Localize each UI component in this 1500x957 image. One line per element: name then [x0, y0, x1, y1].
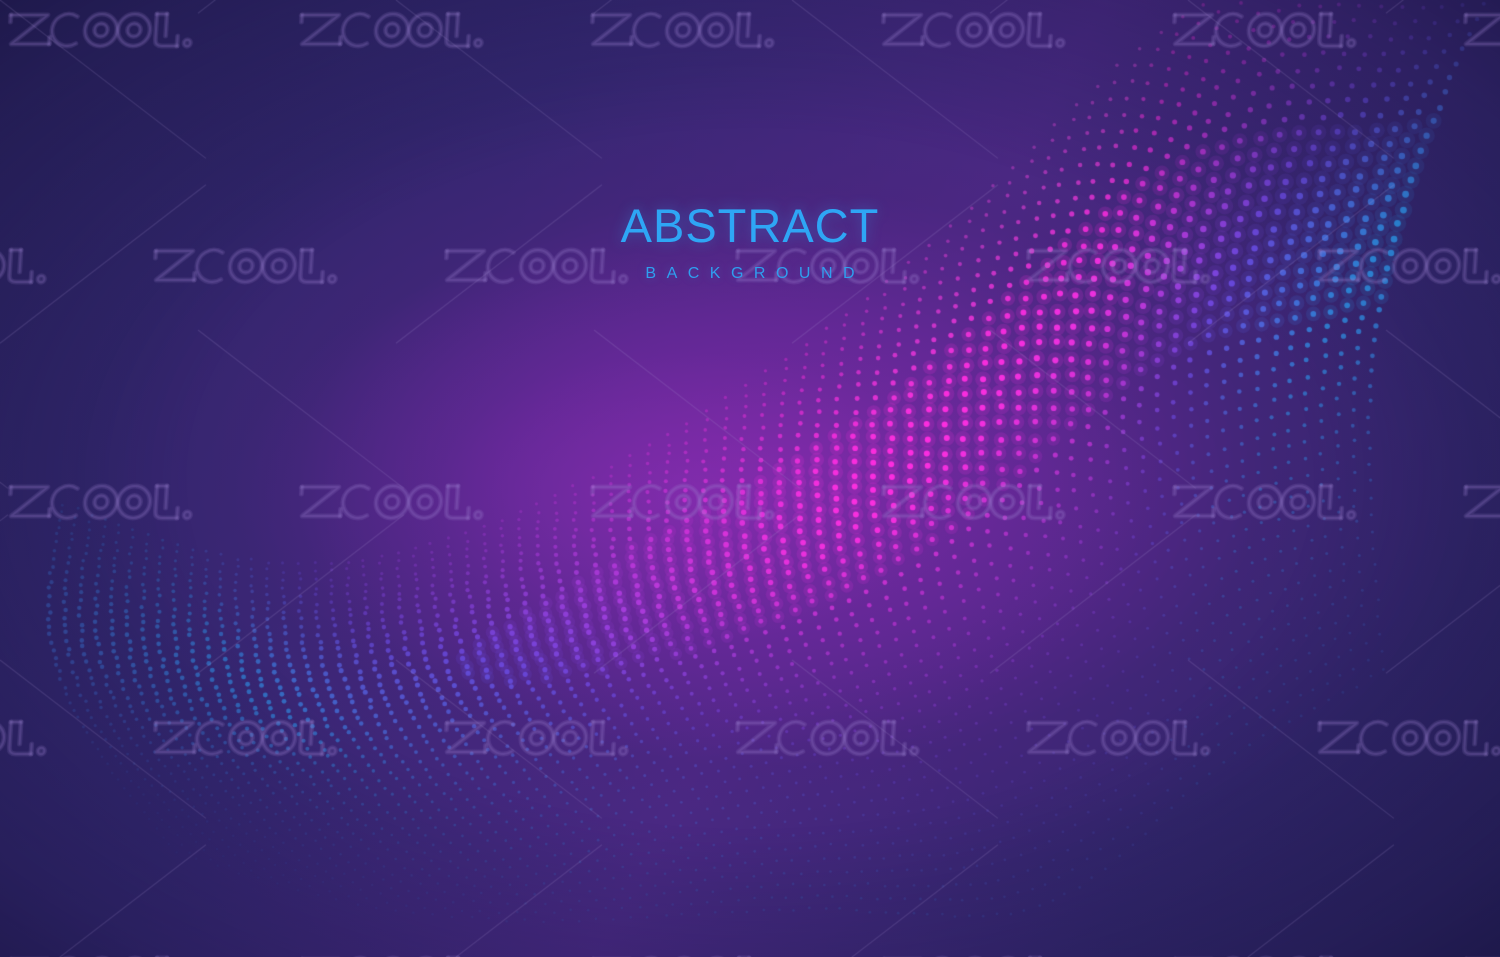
abstract-background-poster: ABSTRACT BACKGROUND [0, 0, 1500, 957]
zcool-watermark-canvas [0, 0, 1500, 957]
